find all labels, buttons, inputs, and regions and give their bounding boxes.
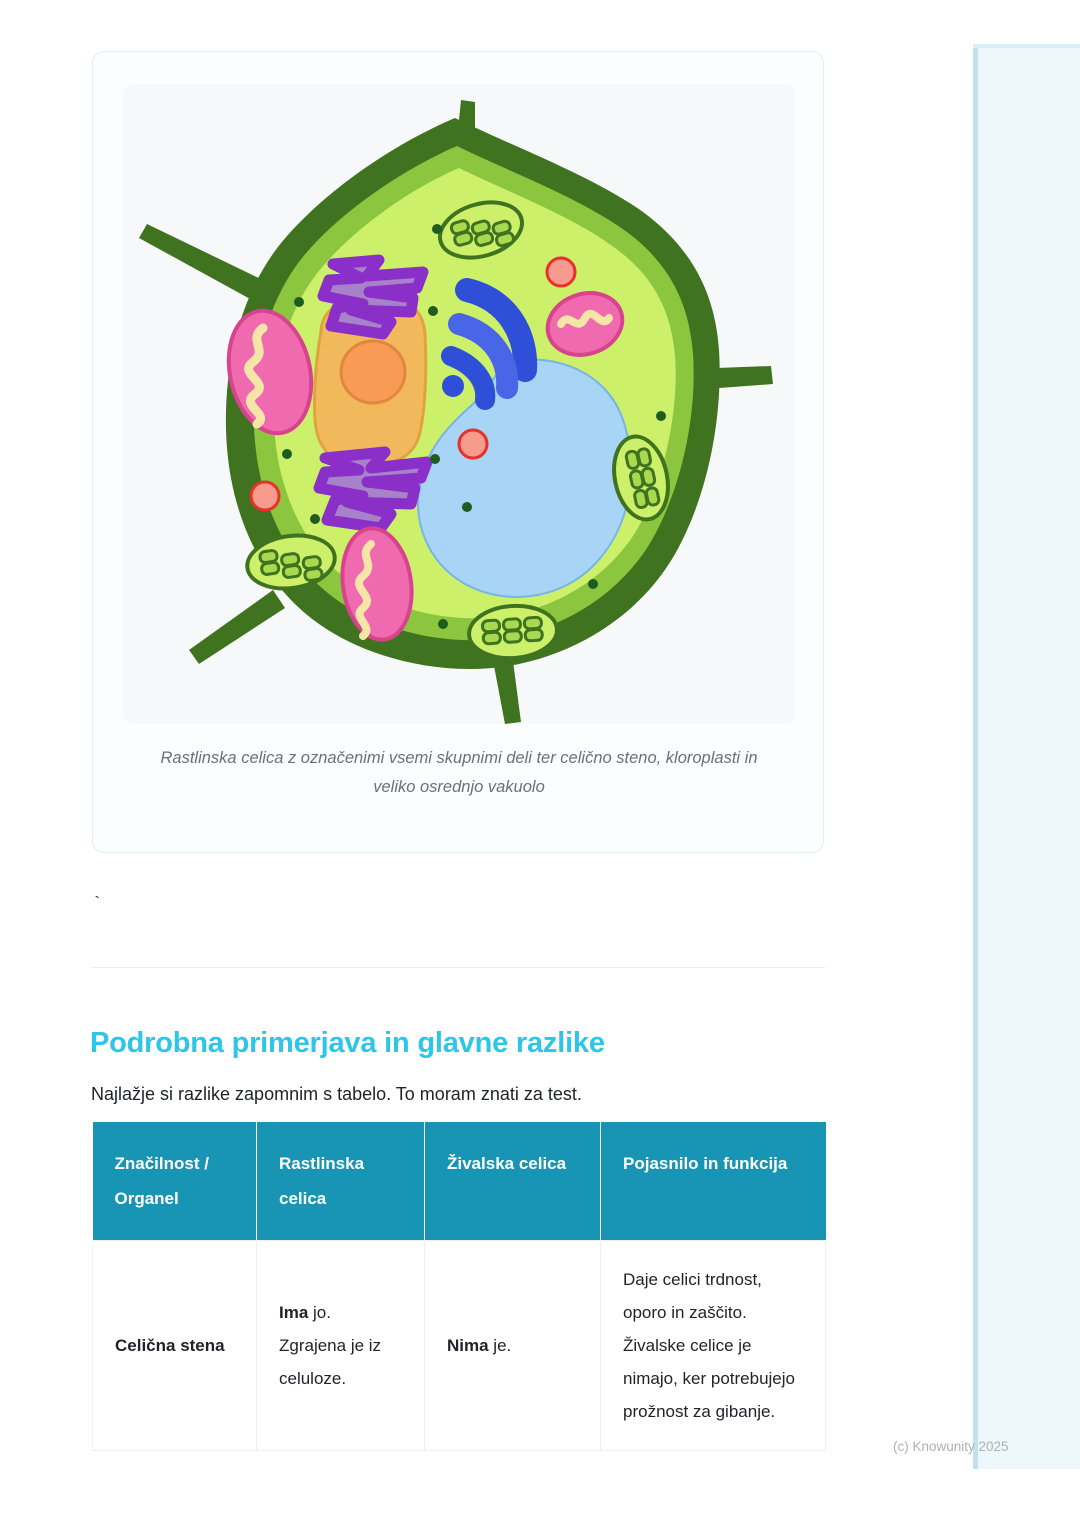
stray-backtick-text: `	[92, 895, 102, 915]
cell-plant-value: Ima jo. Zgrajena je iz celuloze.	[257, 1241, 425, 1451]
table-row: Celična stena Ima jo. Zgrajena je iz cel…	[93, 1241, 826, 1451]
section-heading: Podrobna primerjava in glavne razlike	[90, 1024, 850, 1062]
jedrce	[341, 341, 405, 403]
right-side-rail-edge	[973, 44, 978, 1469]
plant-cell-diagram	[123, 84, 795, 724]
cell-animal-value: Nima je.	[425, 1241, 601, 1451]
comparison-table: Značilnost / Organel Rastlinska celica Ž…	[92, 1122, 826, 1451]
table-header-cell-animal: Živalska celica	[425, 1122, 601, 1241]
right-side-rail	[973, 44, 1080, 1469]
table-header-row: Značilnost / Organel Rastlinska celica Ž…	[93, 1122, 826, 1241]
plant-cell-svg	[123, 84, 795, 724]
figure-caption: Rastlinska celica z označenimi vsemi sku…	[141, 744, 777, 802]
animal-rest: je.	[489, 1336, 512, 1355]
document-content: Rastlinska celica z označenimi vsemi sku…	[0, 0, 920, 1528]
animal-emphasis: Nima	[447, 1336, 489, 1355]
cell-explanation: Daje celici trdnost, oporo in zaščito. Ž…	[601, 1241, 826, 1451]
figure-card: Rastlinska celica z označenimi vsemi sku…	[92, 51, 824, 853]
cell-feature-name: Celična stena	[93, 1241, 257, 1451]
right-side-rail-top-highlight	[973, 44, 1080, 48]
feature-label: Celična stena	[115, 1336, 225, 1355]
section-divider	[92, 967, 825, 968]
copyright-watermark: (c) Knowunity 2025	[893, 1438, 1009, 1456]
section-lead-paragraph: Najlažje si razlike zapomnim s tabelo. T…	[91, 1080, 851, 1108]
plant-emphasis: Ima	[279, 1303, 308, 1322]
table-header-cell-explanation: Pojasnilo in funkcija	[601, 1122, 826, 1241]
table-header-cell-feature: Značilnost / Organel	[93, 1122, 257, 1241]
table-header-cell-plant: Rastlinska celica	[257, 1122, 425, 1241]
